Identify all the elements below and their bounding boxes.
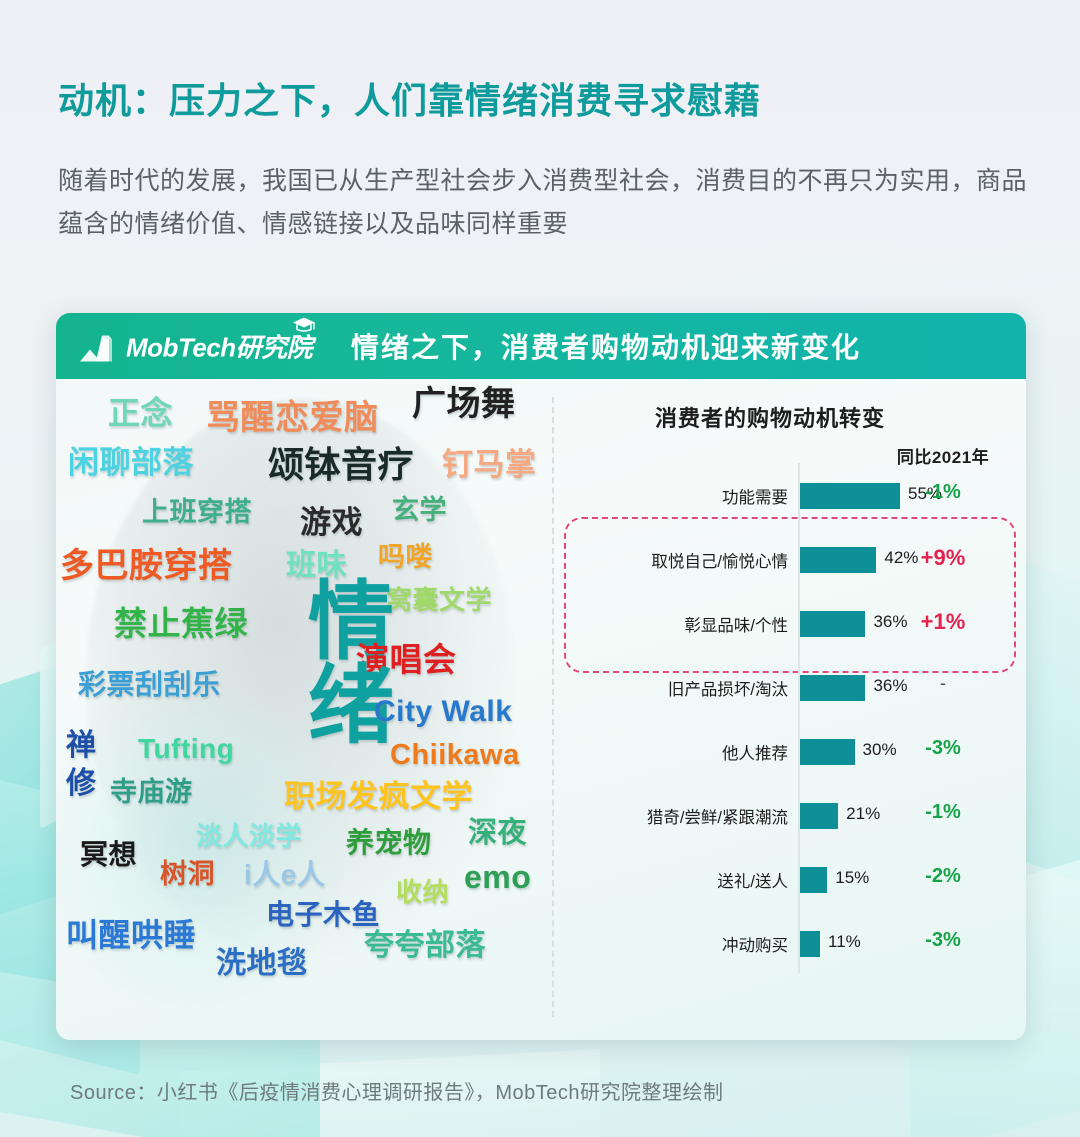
word-cloud-term: 钉马掌 <box>442 449 537 480</box>
chart-row-label: 冲动购买 <box>722 932 788 956</box>
chart-row-label: 他人推荐 <box>722 740 788 764</box>
chart-row: 彰显品味/个性36%+1% <box>554 603 1026 647</box>
chart-row: 送礼/送人15%-2% <box>554 859 1026 903</box>
chart-title: 消费者的购物动机转变 <box>554 401 1026 433</box>
chart-row: 旧产品损坏/淘汰36%- <box>554 667 1026 711</box>
word-cloud-term: 禁止蕉绿 <box>114 607 248 640</box>
word-cloud-term: 玄学 <box>392 497 447 524</box>
chart-row-label: 取悦自己/愉悦心情 <box>651 548 788 572</box>
word-cloud-term: 电子木鱼 <box>266 901 380 929</box>
word-cloud-term: 多巴胺穿搭 <box>60 549 233 583</box>
word-cloud-term: 冥想 <box>80 841 137 869</box>
chart-bar <box>800 803 838 829</box>
chart-row: 冲动购买11%-3% <box>554 923 1026 967</box>
word-cloud-term: 夸夸部落 <box>364 931 486 961</box>
word-cloud-term: 正念 <box>108 397 173 429</box>
chart-row-label: 旧产品损坏/淘汰 <box>668 676 788 700</box>
word-cloud-term: 窝囊文学 <box>386 587 492 613</box>
word-cloud-term: emo <box>464 861 531 893</box>
word-cloud-term: 游戏 <box>300 507 363 538</box>
chart-bar <box>800 611 865 637</box>
chart-yoy-value: -2% <box>878 865 1008 888</box>
page-title: 动机：压力之下，人们靠情绪消费寻求慰藉 <box>58 72 761 124</box>
card-body: 正念骂醒恋爱脑广场舞闲聊部落颂钵音疗钉马掌上班穿搭游戏玄学多巴胺穿搭班味吗喽窝囊… <box>56 379 1026 1040</box>
chart-bar <box>800 675 865 701</box>
word-cloud-term: 闲聊部落 <box>68 447 194 478</box>
word-cloud-term: 修 <box>66 769 97 799</box>
word-cloud-term: 养宠物 <box>346 829 432 857</box>
chart-yoy-value: -3% <box>878 929 1008 952</box>
chart-row-label: 功能需要 <box>722 484 788 508</box>
chart-yoy-value: - <box>878 673 1008 694</box>
page-subtitle: 随着时代的发展，我国已从生产型社会步入消费型社会，消费目的不再只为实用，商品蕴含… <box>58 160 1043 246</box>
word-cloud-term: 颂钵音疗 <box>268 447 414 483</box>
chart-bar-value: 11% <box>828 932 861 952</box>
word-cloud: 正念骂醒恋爱脑广场舞闲聊部落颂钵音疗钉马掌上班穿搭游戏玄学多巴胺穿搭班味吗喽窝囊… <box>56 379 552 1040</box>
chart-bar-value: 21% <box>846 804 880 824</box>
chart-bar <box>800 547 876 573</box>
chart-yoy-value: -1% <box>878 801 1008 824</box>
yoy-column-header: 同比2021年 <box>878 443 1008 468</box>
word-cloud-term: 上班穿搭 <box>142 499 252 526</box>
chart-row: 取悦自己/愉悦心情42%+9% <box>554 539 1026 583</box>
word-cloud-term: 树洞 <box>160 861 215 888</box>
chart-row: 猎奇/尝鲜/紧跟潮流21%-1% <box>554 795 1026 839</box>
chart-bar-value: 15% <box>835 868 869 888</box>
word-cloud-term: 广场舞 <box>412 387 516 421</box>
word-cloud-term: 禅 <box>66 731 97 761</box>
word-cloud-term: 吗喽 <box>378 544 433 571</box>
chart-yoy-value: +9% <box>878 545 1008 571</box>
motivation-bar-chart: 消费者的购物动机转变 同比2021年 功能需要55%-1%取悦自己/愉悦心情42… <box>554 379 1026 1040</box>
word-cloud-term: City Walk <box>374 697 512 727</box>
infographic-card: MobTech研究院 情绪之下，消费者购物动机迎来新变化 正念骂醒恋爱脑广场舞闲… <box>56 313 1026 1040</box>
chart-bar <box>800 931 820 957</box>
word-cloud-term: 淡人淡学 <box>196 823 302 849</box>
word-cloud-term: 寺庙游 <box>110 779 193 806</box>
chart-row-label: 送礼/送人 <box>717 868 788 892</box>
chart-row-label: 猎奇/尝鲜/紧跟潮流 <box>647 804 788 828</box>
word-cloud-term: Tufting <box>138 735 234 763</box>
card-banner-title: 情绪之下，消费者购物动机迎来新变化 <box>56 326 1026 366</box>
chart-bar <box>800 739 855 765</box>
chart-row: 功能需要55%-1% <box>554 475 1026 519</box>
source-note: Source：小红书《后疫情消费心理调研报告》，MobTech研究院整理绘制 <box>70 1076 724 1105</box>
word-cloud-term: Chiikawa <box>390 741 520 770</box>
chart-row: 他人推荐30%-3% <box>554 731 1026 775</box>
word-cloud-term: i人e人 <box>244 861 325 889</box>
word-cloud-term: 职场发疯文学 <box>284 781 473 812</box>
word-cloud-term: 叫醒哄睡 <box>66 919 196 951</box>
word-cloud-term: 收纳 <box>396 879 449 905</box>
card-banner: MobTech研究院 情绪之下，消费者购物动机迎来新变化 <box>56 313 1026 379</box>
chart-bar <box>800 867 827 893</box>
chart-row-label: 彰显品味/个性 <box>684 612 788 636</box>
background-top-fade <box>0 0 1080 300</box>
chart-yoy-value: -3% <box>878 737 1008 760</box>
word-cloud-term: 深夜 <box>468 819 527 848</box>
chart-yoy-value: +1% <box>878 609 1008 635</box>
word-cloud-term: 彩票刮刮乐 <box>78 671 221 699</box>
chart-yoy-value: -1% <box>878 481 1008 504</box>
word-cloud-term: 洗地毯 <box>216 949 308 979</box>
word-cloud-term: 骂醒恋爱脑 <box>206 401 379 435</box>
